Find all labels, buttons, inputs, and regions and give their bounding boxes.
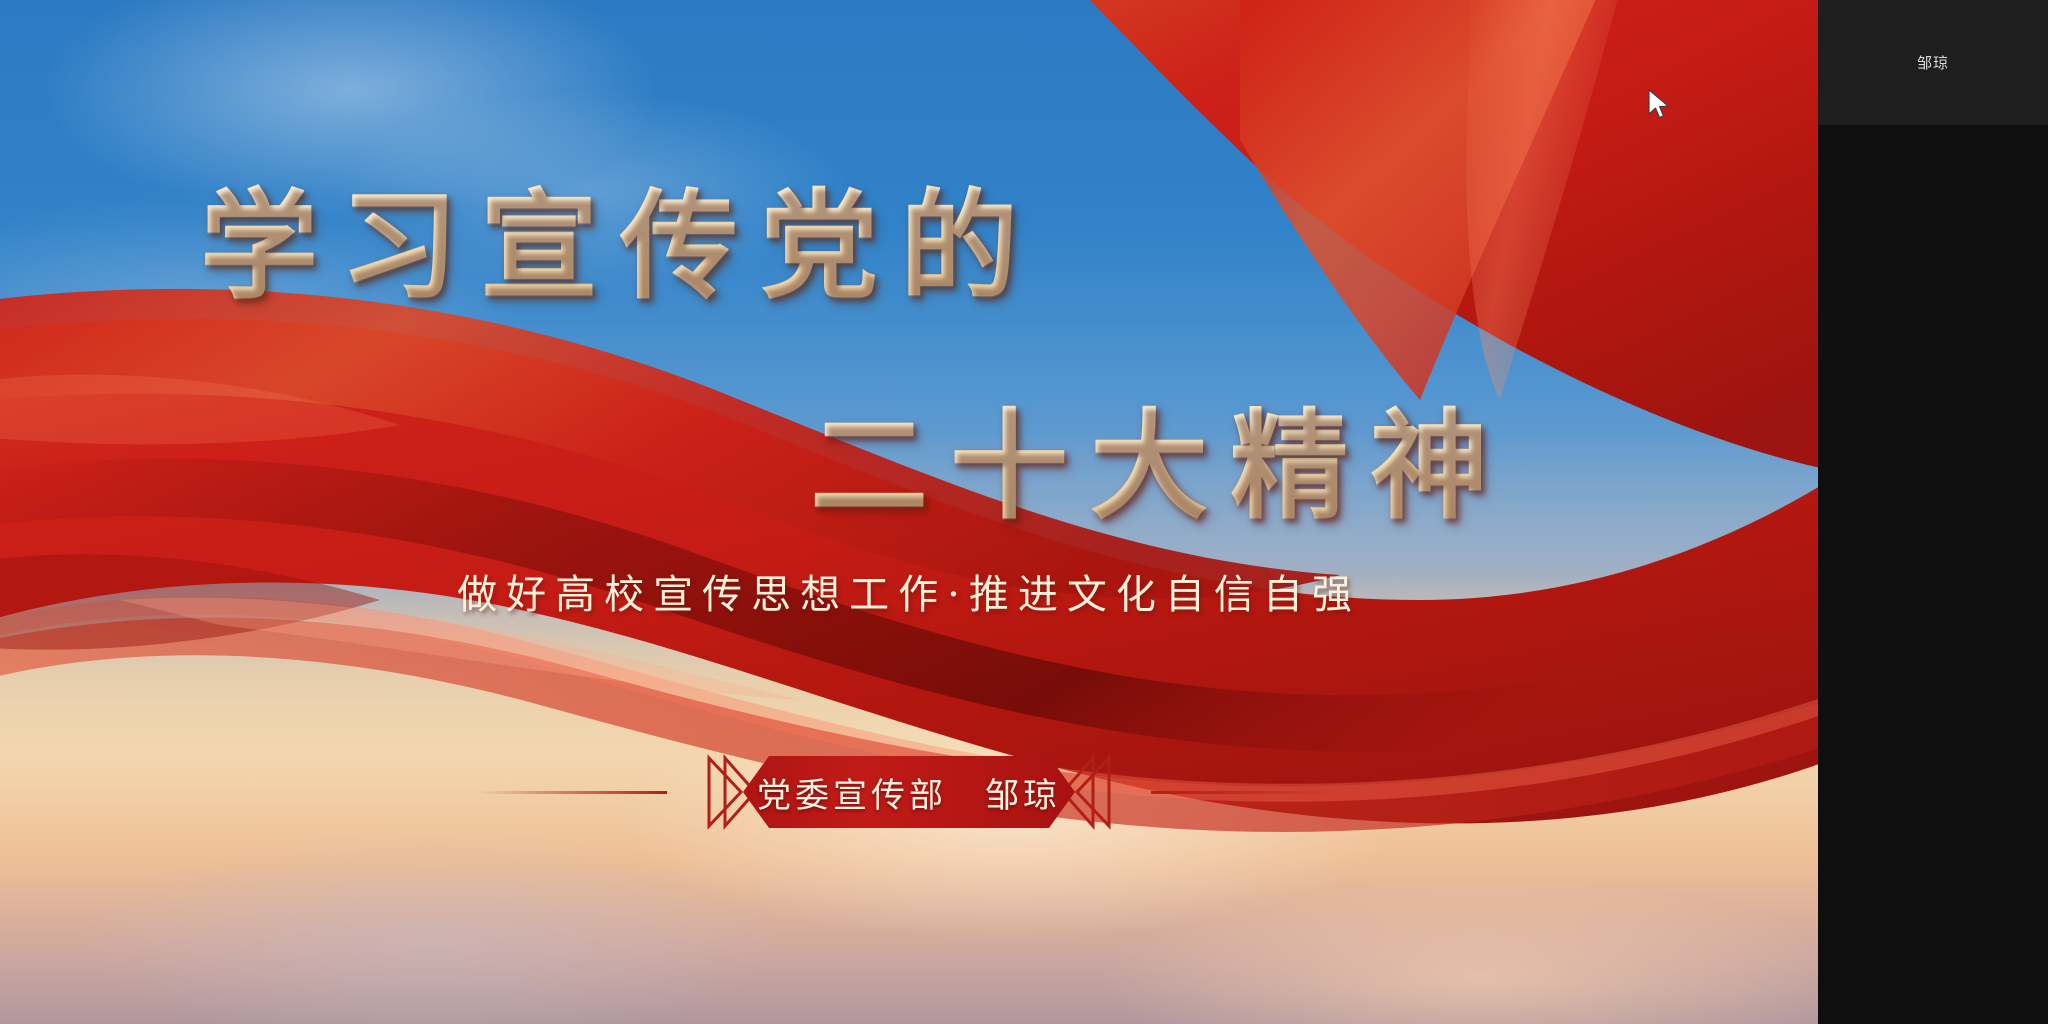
- presenter-banner: 党委宣传部 邹琼: [707, 752, 1111, 832]
- red-silk-ribbon: [0, 0, 1818, 1024]
- mouse-cursor-icon: [1646, 88, 1672, 122]
- presenter-banner-row: 党委宣传部 邹琼: [0, 752, 1818, 832]
- presenter-banner-label: 党委宣传部 邹琼: [707, 752, 1111, 832]
- divider-line-right: [1151, 791, 1341, 794]
- participant-rail-empty-area: [1818, 125, 2048, 1024]
- participant-rail[interactable]: 邹琼: [1818, 0, 2048, 1024]
- screen: 学习宣传党的 二十大精神 做好高校宣传思想工作·推进文化自信自强: [0, 0, 2048, 1024]
- presentation-slide[interactable]: 学习宣传党的 二十大精神 做好高校宣传思想工作·推进文化自信自强: [0, 0, 1818, 1024]
- divider-line-left: [477, 791, 667, 794]
- participant-tile[interactable]: 邹琼: [1818, 0, 2048, 125]
- participant-name: 邹琼: [1917, 52, 1949, 73]
